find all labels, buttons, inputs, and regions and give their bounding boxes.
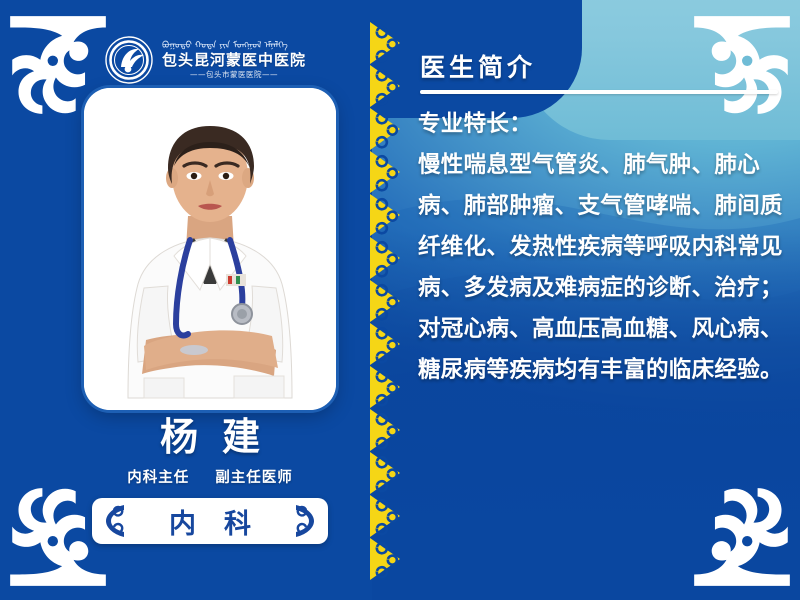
- department-badge-label: 内科: [141, 502, 279, 541]
- profile-lead-label: 专业特长：: [418, 104, 784, 145]
- hospital-emblem-icon: [104, 35, 154, 85]
- doctor-title-primary: 内科主任: [127, 466, 189, 487]
- hospital-mongolian-script: ᠪᠤᠭᠤᠲᠤ ᠬᠣᠲᠠ ᠶᠢᠨ ᠮᠣᠩᠭᠣᠯ ᠡᠮᠨᠡᠯᠭᠡ: [162, 41, 306, 51]
- hospital-subtitle: ——包头市蒙医医院——: [162, 70, 306, 79]
- mongolian-cloud-scroll-corner-icon: [690, 484, 794, 588]
- doctor-name: 杨建: [84, 415, 336, 459]
- profile-body-text: 慢性喘息型气管炎、肺气肿、肺心病、肺部肿瘤、支气管哮喘、肺间质纤维化、发热性疾病…: [418, 152, 783, 383]
- mongolian-zigzag-band-icon: [368, 22, 402, 580]
- department-badge: 内科: [92, 498, 328, 544]
- mongolian-cloud-scroll-corner-icon: [690, 14, 794, 118]
- mongolian-scroll-bracket-icon: [100, 504, 126, 538]
- profile-section-title: 医生简介: [420, 48, 536, 84]
- mongolian-scroll-bracket-icon: [294, 504, 320, 538]
- profile-body: 专业特长：慢性喘息型气管炎、肺气肿、肺心病、肺部肿瘤、支气管哮喘、肺间质纤维化、…: [418, 104, 784, 391]
- doctor-portrait: [84, 88, 336, 410]
- doctor-title-secondary: 副主任医师: [215, 466, 293, 487]
- doctor-titles: 内科主任 副主任医师: [84, 466, 336, 487]
- hospital-logo-row: ᠪᠤᠭᠤᠲᠤ ᠬᠣᠲᠠ ᠶᠢᠨ ᠮᠣᠩᠭᠣᠯ ᠡᠮᠨᠡᠯᠭᠡ 包头昆河蒙医中医院…: [104, 32, 350, 88]
- profile-title-rule: [420, 90, 778, 94]
- hospital-name: 包头昆河蒙医中医院: [162, 52, 306, 69]
- doctor-profile-card: ᠪᠤᠭᠤᠲᠤ ᠬᠣᠲᠠ ᠶᠢᠨ ᠮᠣᠩᠭᠣᠯ ᠡᠮᠨᠡᠯᠭᠡ 包头昆河蒙医中医院…: [0, 0, 800, 600]
